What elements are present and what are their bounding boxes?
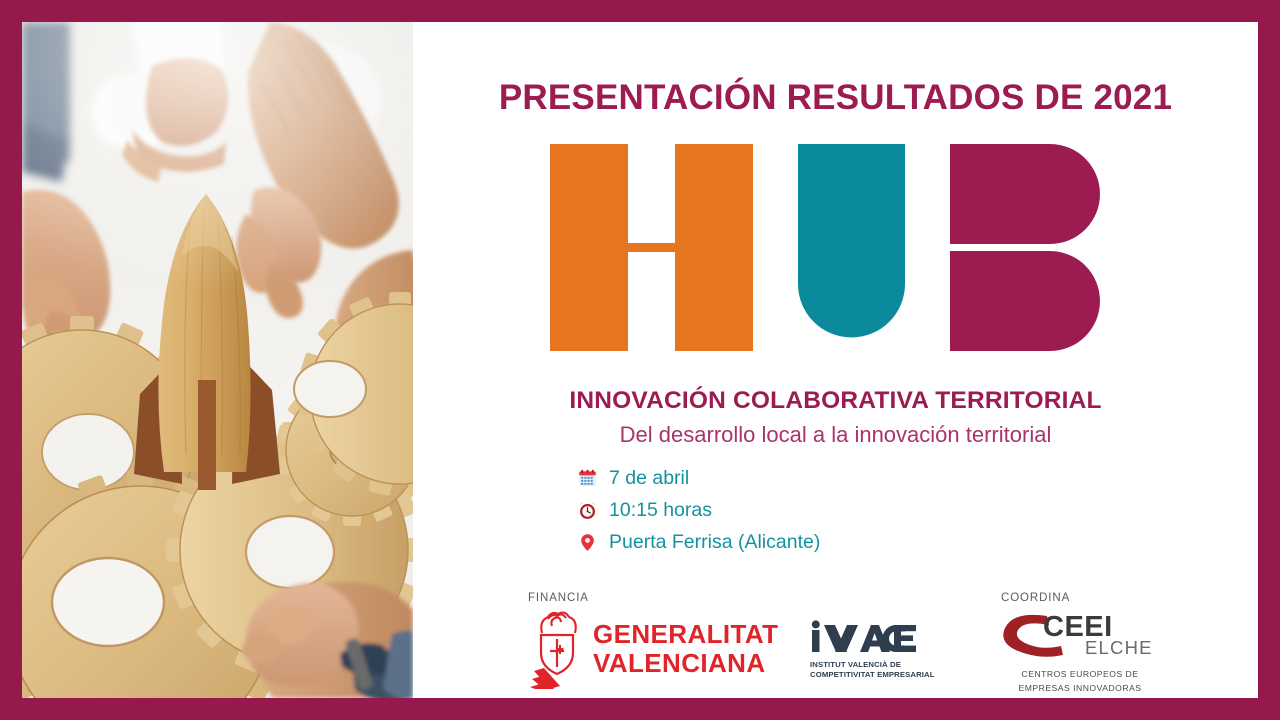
hub-logo xyxy=(413,140,1258,370)
calendar-icon xyxy=(578,467,606,491)
event-location-text: Puerta Ferrisa (Alicante) xyxy=(606,531,820,554)
clock-icon xyxy=(578,499,606,523)
event-date-text: 7 de abril xyxy=(606,467,689,490)
footer-financia-block: FINANCIA xyxy=(528,592,933,689)
ivace-tagline-line1: INSTITUT VALENCIÀ DE xyxy=(810,660,935,670)
ceei-elche-logo: CEEI ELCHE CENTROS EUROPEOS DE EMPRESAS … xyxy=(1001,609,1159,694)
footer-financia-caption: FINANCIA xyxy=(528,592,933,604)
subtitle-primary: INNOVACIÓN COLABORATIVA TERRITORIAL xyxy=(413,387,1258,415)
event-details-list: 7 de abril 10:15 horas xyxy=(578,465,820,556)
poster-root: PRESENTACIÓN RESULTADOS DE 2021 xyxy=(0,0,1280,720)
ceei-tagline-line2: EMPRESAS INNOVADORAS xyxy=(1001,683,1159,694)
generalitat-line1: GENERALITAT xyxy=(593,620,778,649)
subtitle-secondary: Del desarrollo local a la innovación ter… xyxy=(413,422,1258,448)
generalitat-valenciana-logo: GENERALITAT VALENCIANA xyxy=(528,609,778,689)
hub-logo-letter-h xyxy=(550,144,753,351)
ceei-elche-text: ELCHE xyxy=(1085,637,1153,658)
event-detail-time: 10:15 horas xyxy=(578,497,820,524)
page-title: PRESENTACIÓN RESULTADOS DE 2021 xyxy=(413,78,1258,118)
hub-logo-letter-u xyxy=(798,144,905,337)
collaboration-wooden-gears-rocket-photo xyxy=(22,22,413,698)
ivace-tagline-line2: COMPETITIVITAT EMPRESARIAL xyxy=(810,670,935,680)
ceei-tagline-line1: CENTROS EUROPEOS DE xyxy=(1001,669,1159,680)
footer-logos: FINANCIA xyxy=(413,592,1258,702)
ivace-logo: INSTITUT VALENCIÀ DE COMPETITIVITAT EMPR… xyxy=(810,619,932,679)
generalitat-valenciana-wordmark: GENERALITAT VALENCIANA xyxy=(593,620,778,678)
footer-coordina-caption: COORDINA xyxy=(1001,592,1159,604)
event-detail-date: 7 de abril xyxy=(578,465,820,492)
hub-logo-letter-b xyxy=(950,144,1100,351)
event-time-text: 10:15 horas xyxy=(606,499,712,522)
generalitat-line2: VALENCIANA xyxy=(593,649,778,678)
footer-coordina-block: COORDINA CEEI ELCHE CENTROS EUROPEOS DE xyxy=(1001,592,1159,694)
event-detail-location: Puerta Ferrisa (Alicante) xyxy=(578,529,820,556)
poster-content-panel: PRESENTACIÓN RESULTADOS DE 2021 xyxy=(413,22,1258,698)
location-pin-icon xyxy=(578,531,606,555)
